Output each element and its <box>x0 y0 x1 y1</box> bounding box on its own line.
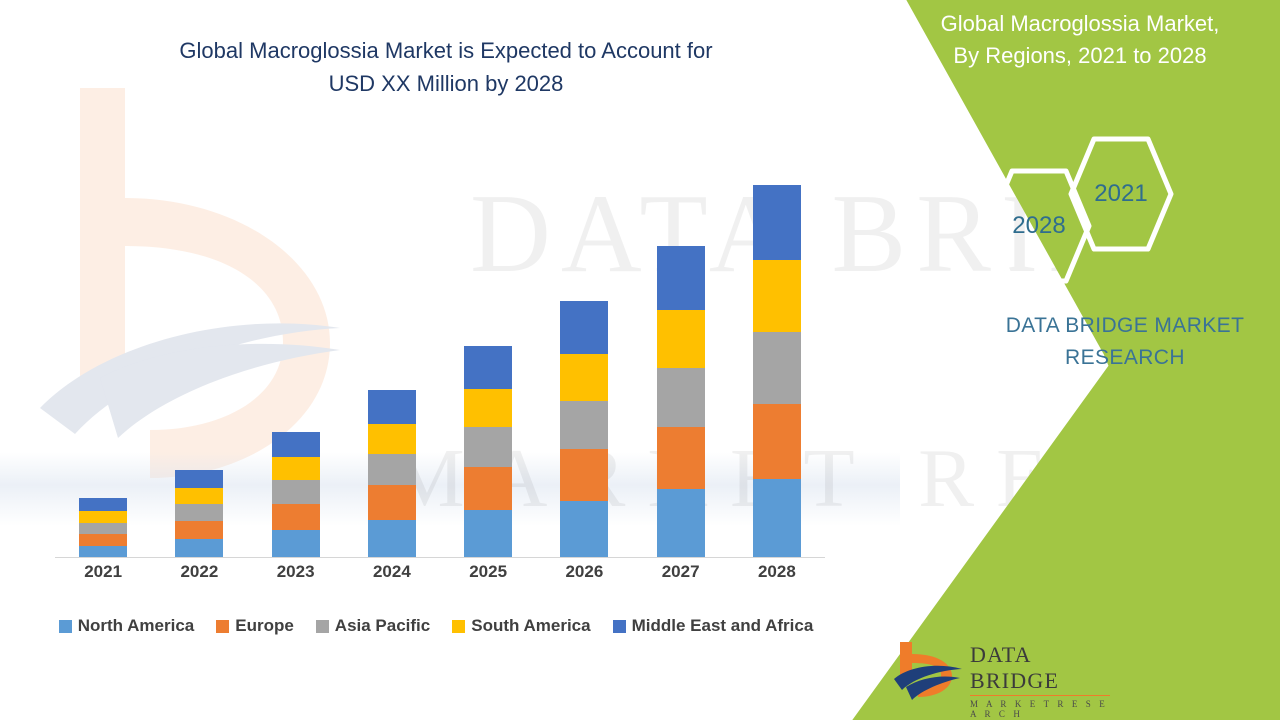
bar-column <box>151 150 247 558</box>
bar-segment <box>368 390 416 424</box>
legend-swatch-icon <box>316 620 329 633</box>
company-logo: DATA BRIDGE M A R K E T R E S E A R C H <box>892 638 1107 704</box>
bar-segment <box>79 534 127 546</box>
bar-group <box>55 150 825 558</box>
stacked-bar <box>79 498 127 558</box>
bar-segment <box>464 467 512 510</box>
x-axis-line <box>55 557 825 558</box>
x-axis-tick: 2026 <box>536 562 632 582</box>
bar-segment <box>79 498 127 511</box>
legend-swatch-icon <box>613 620 626 633</box>
bar-segment <box>79 523 127 534</box>
hexagon-start-year-label: 2021 <box>1067 135 1175 253</box>
bar-segment <box>368 454 416 485</box>
bar-segment <box>657 246 705 309</box>
bar-column <box>729 150 825 558</box>
bar-segment <box>657 310 705 369</box>
bar-segment <box>560 301 608 354</box>
chart-plot-area <box>55 150 825 558</box>
bar-segment <box>368 485 416 520</box>
data-bridge-logo-icon <box>892 640 964 702</box>
stacked-bar <box>464 346 512 558</box>
bar-segment <box>272 457 320 480</box>
hexagon-badges: 2028 2021 <box>985 135 1190 285</box>
bar-segment <box>464 427 512 467</box>
bar-segment <box>560 401 608 450</box>
bar-segment <box>368 424 416 453</box>
bar-column <box>536 150 632 558</box>
legend-item[interactable]: Middle East and Africa <box>613 616 814 636</box>
bar-segment <box>464 346 512 389</box>
logo-name: DATA BRIDGE <box>970 642 1110 696</box>
bar-column <box>440 150 536 558</box>
x-axis-tick: 2027 <box>633 562 729 582</box>
legend-label: North America <box>78 616 195 636</box>
x-axis-tick: 2024 <box>344 562 440 582</box>
legend-label: Middle East and Africa <box>632 616 814 636</box>
bar-segment <box>464 510 512 559</box>
panel-brand-text: DATA BRIDGE MARKET RESEARCH <box>960 310 1280 374</box>
chart-legend: North AmericaEuropeAsia PacificSouth Ame… <box>46 616 826 636</box>
bar-segment <box>175 504 223 521</box>
stacked-bar <box>657 246 705 558</box>
bar-segment <box>368 520 416 558</box>
legend-swatch-icon <box>452 620 465 633</box>
logo-tagline: M A R K E T R E S E A R C H <box>970 699 1110 719</box>
bar-segment <box>753 185 801 260</box>
legend-item[interactable]: North America <box>59 616 195 636</box>
bar-segment <box>175 521 223 539</box>
stacked-bar <box>175 470 223 558</box>
bar-column <box>248 150 344 558</box>
legend-swatch-icon <box>59 620 72 633</box>
bar-segment <box>753 260 801 332</box>
x-axis-tick: 2028 <box>729 562 825 582</box>
bar-segment <box>175 488 223 504</box>
chart-title-line1: Global Macroglossia Market is Expected t… <box>96 34 796 67</box>
bar-segment <box>753 404 801 479</box>
legend-label: Asia Pacific <box>335 616 430 636</box>
bar-segment <box>657 427 705 489</box>
panel-title: Global Macroglossia Market, By Regions, … <box>900 8 1260 72</box>
bar-column <box>633 150 729 558</box>
bar-segment <box>560 501 608 558</box>
legend-item[interactable]: Europe <box>216 616 294 636</box>
stacked-bar <box>560 301 608 558</box>
infographic-slide: DATA BRIDGE MARKET RESEARCH Global Macro… <box>0 0 1280 720</box>
panel-title-line2: By Regions, 2021 to 2028 <box>900 40 1260 72</box>
hexagon-badge-start-year: 2021 <box>1067 135 1175 253</box>
bar-segment <box>560 449 608 500</box>
bar-segment <box>175 470 223 488</box>
bar-segment <box>753 332 801 404</box>
bar-column <box>55 150 151 558</box>
legend-item[interactable]: South America <box>452 616 590 636</box>
bar-segment <box>272 530 320 558</box>
stacked-bar <box>753 185 801 558</box>
x-axis-tick: 2022 <box>151 562 247 582</box>
bar-segment <box>464 389 512 427</box>
logo-wordmark: DATA BRIDGE M A R K E T R E S E A R C H <box>970 642 1110 719</box>
bar-segment <box>175 539 223 558</box>
panel-brand-line2: RESEARCH <box>960 342 1280 374</box>
panel-title-line1: Global Macroglossia Market, <box>900 8 1260 40</box>
x-axis-labels: 20212022202320242025202620272028 <box>55 562 825 582</box>
panel-brand-line1: DATA BRIDGE MARKET <box>960 310 1280 342</box>
bar-segment <box>753 479 801 558</box>
bar-segment <box>272 432 320 458</box>
x-axis-tick: 2021 <box>55 562 151 582</box>
legend-item[interactable]: Asia Pacific <box>316 616 430 636</box>
legend-swatch-icon <box>216 620 229 633</box>
legend-label: Europe <box>235 616 294 636</box>
chart-title-line2: USD XX Million by 2028 <box>96 67 796 100</box>
x-axis-tick: 2023 <box>248 562 344 582</box>
legend-label: South America <box>471 616 590 636</box>
bar-segment <box>79 511 127 523</box>
bar-segment <box>272 480 320 504</box>
stacked-bar <box>272 432 320 558</box>
bar-column <box>344 150 440 558</box>
stacked-bar <box>368 390 416 558</box>
bar-segment <box>272 504 320 530</box>
bar-segment <box>657 489 705 558</box>
x-axis-tick: 2025 <box>440 562 536 582</box>
bar-segment <box>657 368 705 427</box>
bar-segment <box>560 354 608 401</box>
chart-title: Global Macroglossia Market is Expected t… <box>96 34 796 100</box>
